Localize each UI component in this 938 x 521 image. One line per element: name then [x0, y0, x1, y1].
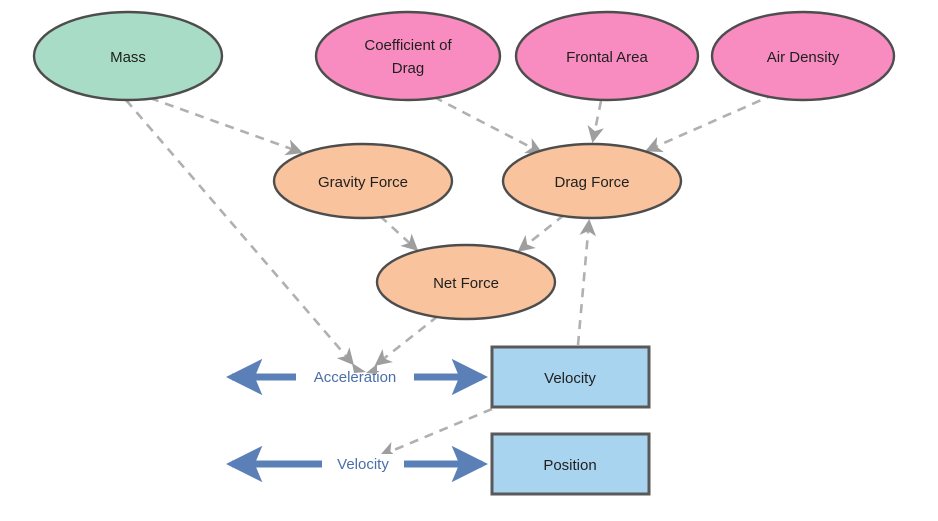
edge-velocity-to-velocityflow [382, 409, 492, 455]
node-air-density[interactable]: Air Density [712, 12, 894, 100]
node-coefficient-of-drag[interactable]: Coefficient of Drag [316, 12, 500, 100]
node-air-density-label: Air Density [767, 49, 840, 66]
node-net-force[interactable]: Net Force [377, 245, 555, 319]
node-drag-force[interactable]: Drag Force [503, 144, 681, 218]
edge-netforce-to-acceleration [377, 316, 438, 364]
node-gravity-force[interactable]: Gravity Force [274, 144, 452, 218]
node-frontal-area[interactable]: Frontal Area [516, 12, 698, 100]
node-gravity-force-label: Gravity Force [318, 174, 408, 191]
node-drag-force-label: Drag Force [554, 174, 629, 191]
edge-velocity-to-drag [578, 222, 589, 345]
node-mass[interactable]: Mass [34, 12, 222, 100]
nodes-layer: Mass Coefficient of Drag Frontal Area Ai… [34, 12, 894, 494]
flow-arrows-layer: Acceleration Velocity [232, 367, 482, 475]
edge-frontalarea-to-drag [593, 101, 601, 140]
edge-gravity-to-netforce [380, 216, 416, 249]
node-velocity[interactable]: Velocity [492, 347, 649, 407]
node-position[interactable]: Position [492, 434, 649, 494]
node-net-force-label: Net Force [433, 275, 499, 292]
node-mass-label: Mass [110, 49, 146, 66]
diagram-canvas: Acceleration Velocity Mass Coefficient o… [0, 0, 938, 521]
edge-airdensity-to-drag [648, 94, 775, 150]
velocity-flow-label: Velocity [337, 456, 389, 473]
node-frontal-area-label: Frontal Area [566, 49, 648, 66]
edge-coeffdrag-to-drag [434, 97, 540, 152]
edge-drag-to-netforce [520, 215, 564, 250]
node-coefficient-of-drag-label-line1: Coefficient of [364, 37, 452, 54]
edge-mass-to-gravity [150, 98, 300, 152]
edge-mass-to-acceleration [126, 100, 352, 363]
node-coefficient-of-drag-label-line2: Drag [392, 60, 425, 77]
node-position-label: Position [543, 457, 596, 474]
node-coefficient-of-drag-shape [316, 12, 500, 100]
node-velocity-label: Velocity [544, 370, 596, 387]
system-dynamics-diagram: Acceleration Velocity Mass Coefficient o… [0, 0, 938, 521]
